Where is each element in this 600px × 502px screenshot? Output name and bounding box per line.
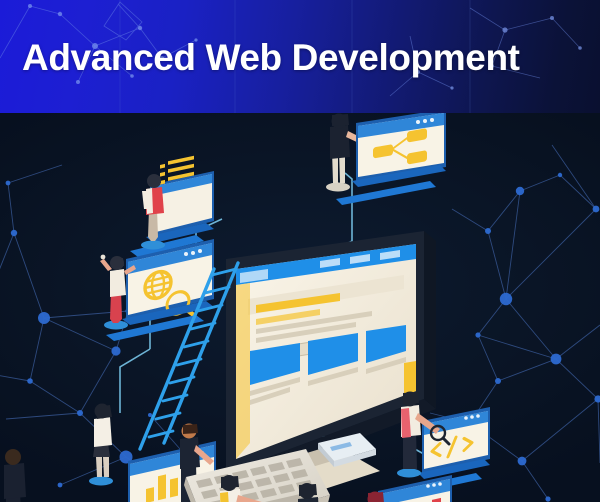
isometric-scene [0,113,600,502]
content-card-left [130,156,214,257]
banner: Advanced Web Development [0,0,600,113]
page-title: Advanced Web Development [22,36,588,80]
illustration [0,113,600,502]
person-far-left-dark [2,449,26,502]
image-canvas: Advanced Web Development [0,0,600,502]
person-white-lower-left [89,404,113,486]
